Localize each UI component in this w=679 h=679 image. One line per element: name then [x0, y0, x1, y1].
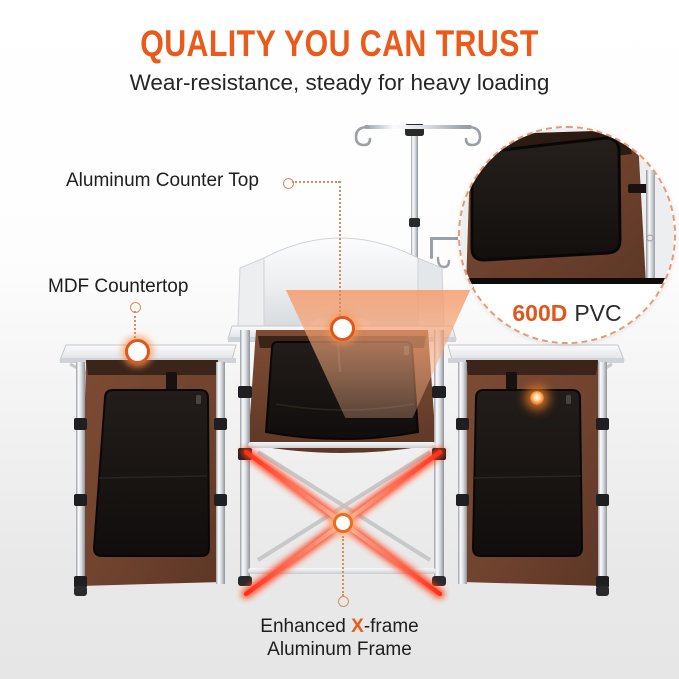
- callout-leader-h-aluminum: [292, 181, 340, 183]
- material-denier: 600D: [512, 300, 567, 327]
- material-type: PVC: [574, 300, 621, 327]
- material-badge: 600D PVC: [460, 284, 674, 342]
- callout-marker-mdf-countertop: [125, 339, 150, 364]
- xframe-prefix: Enhanced: [260, 616, 351, 637]
- callout-leader-v-xframe: [342, 536, 344, 596]
- callout-leader-v-mdf: [134, 311, 136, 342]
- callout-leader-v-aluminum: [339, 181, 341, 320]
- magnifier-circle: 600D PVC: [458, 126, 676, 344]
- callout-label-xframe-line2: Aluminum Frame: [0, 638, 679, 661]
- infographic-canvas: QUALITY YOU CAN TRUST Wear-resistance, s…: [0, 0, 679, 679]
- callout-label-xframe-line1: Enhanced X-frame: [0, 615, 679, 638]
- xframe-mark: X: [351, 616, 364, 637]
- callout-label-aluminum-counter-top: Aluminum Counter Top: [66, 170, 259, 192]
- callout-anchor-xframe: [338, 596, 349, 607]
- left-storage-cabinet: [80, 360, 222, 586]
- callout-label-mdf-countertop: MDF Countertop: [48, 276, 188, 298]
- callout-anchor-aluminum-counter-top: [283, 178, 294, 189]
- callout-marker-aluminum-counter-top: [330, 316, 355, 341]
- callout-label-xframe: Enhanced X-frame Aluminum Frame: [0, 615, 679, 661]
- magnifier-hotspot: [530, 391, 544, 405]
- xframe-suffix: -frame: [364, 616, 419, 637]
